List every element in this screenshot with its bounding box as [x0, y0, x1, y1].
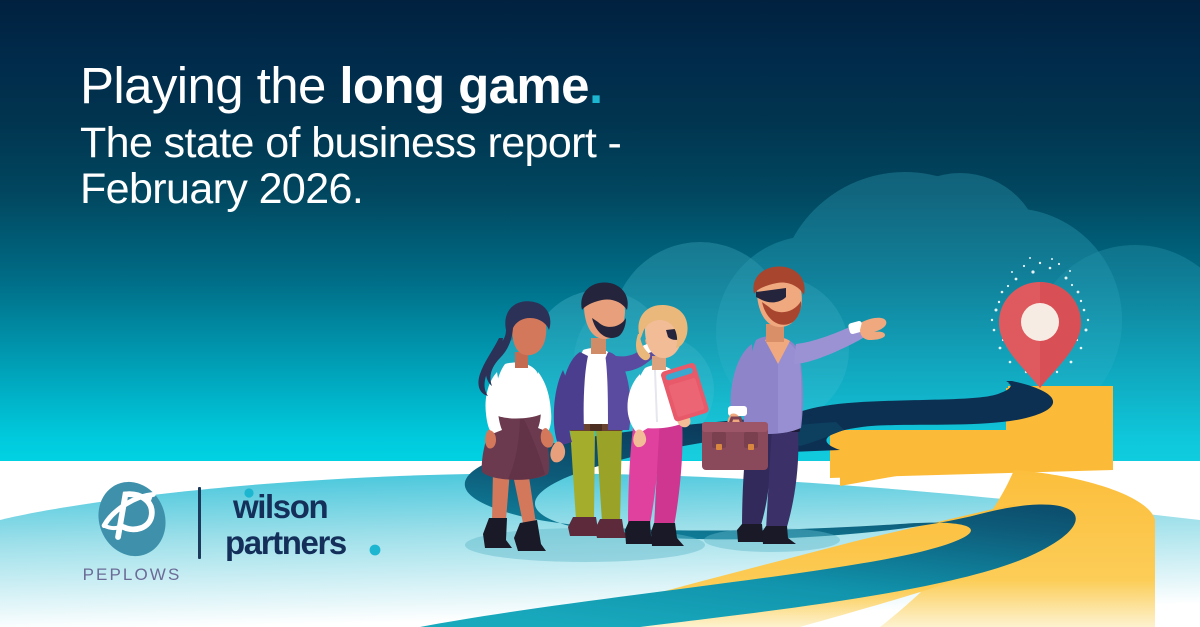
peplows-logo[interactable]: PEPLOWS	[80, 478, 184, 585]
wilson-i-dot	[244, 488, 253, 497]
figure-man-pointing	[702, 267, 886, 544]
partners-text: partners	[225, 524, 346, 561]
wilson-partners-logo[interactable]: wilson partners	[225, 486, 397, 564]
peplows-orbit-p-icon	[91, 478, 173, 560]
trouser-right	[596, 428, 622, 522]
headline-regular: Playing the	[80, 57, 339, 114]
headline-accent-dot: .	[589, 57, 603, 114]
headline-emphasis: long game	[339, 57, 589, 114]
pointing-hand	[860, 318, 886, 340]
briefcase	[702, 418, 768, 470]
shoe	[483, 518, 512, 548]
figure-woman-dark-hair	[478, 301, 553, 551]
partners-accent-dot	[370, 545, 381, 556]
trouser-left	[570, 428, 595, 520]
headline-line-2: The state of business report -	[80, 120, 740, 167]
figure-woman-blonde-tablet	[625, 305, 710, 546]
shoe	[514, 520, 546, 551]
headline-line-3: February 2026.	[80, 166, 740, 213]
shoe	[762, 526, 796, 544]
headline-line-1: Playing the long game.	[80, 58, 740, 114]
map-pin-hole	[1021, 303, 1059, 341]
logo-lockup[interactable]: PEPLOWS wilson partners	[80, 478, 397, 585]
peplows-wordmark: PEPLOWS	[83, 565, 182, 585]
headline-block: Playing the long game. The state of busi…	[80, 58, 740, 213]
banner-canvas: Playing the long game. The state of busi…	[0, 0, 1200, 627]
blouse	[494, 362, 543, 418]
logo-divider	[198, 487, 201, 559]
shoe	[651, 523, 684, 546]
map-pin-marker	[991, 257, 1089, 388]
wilson-partners-wordmark: wilson partners	[225, 486, 397, 564]
